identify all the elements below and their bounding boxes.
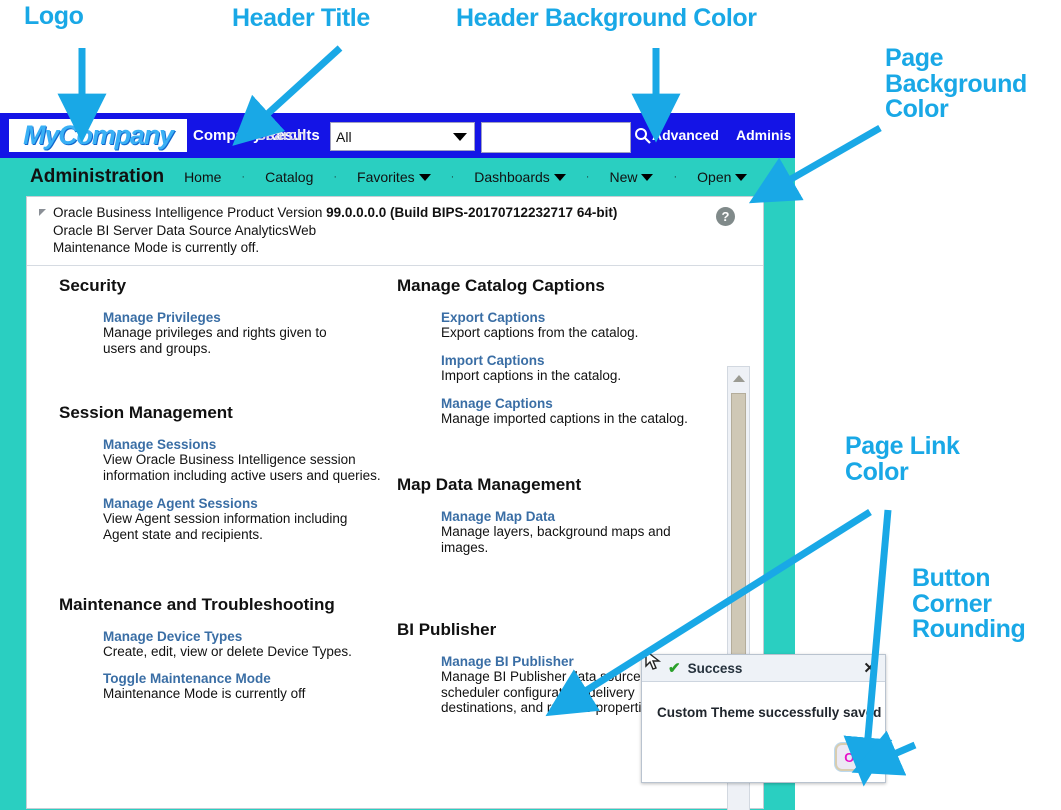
nav-item-open[interactable]: Open — [697, 169, 747, 185]
annotation-page-link: Page Link Color — [845, 434, 960, 485]
collapse-triangle-icon[interactable] — [39, 209, 46, 216]
annotation-header-bg: Header Background Color — [456, 6, 757, 32]
help-icon[interactable]: ? — [716, 207, 735, 226]
desc-manage-captions: Manage imported captions in the catalog. — [441, 411, 731, 427]
link-manage-captions[interactable]: Manage Captions — [441, 396, 722, 411]
section-title-maintenance: Maintenance and Troubleshooting — [59, 595, 389, 615]
nav-brand: Administration — [30, 166, 164, 188]
annotation-page-bg: Page Background Color — [885, 46, 1027, 123]
chevron-down-icon — [554, 174, 566, 181]
data-source-line: Oracle BI Server Data Source AnalyticsWe… — [53, 223, 763, 238]
annotation-logo: Logo — [24, 4, 83, 30]
spacer — [397, 568, 722, 620]
product-version-prefix: Oracle Business Intelligence Product Ver… — [53, 205, 326, 220]
search-label: Search — [256, 127, 306, 144]
desc-manage-map-data: Manage layers, background maps and image… — [441, 524, 701, 556]
dialog-title: Success — [688, 661, 743, 676]
dialog-title-bar: ✔ Success ✕ — [642, 655, 885, 682]
global-nav: Administration Home · Catalog · Favorite… — [0, 158, 795, 196]
section-title-bi-publisher: BI Publisher — [397, 620, 722, 640]
desc-import-captions: Import captions in the catalog. — [441, 368, 721, 384]
nav-label: Home — [184, 169, 221, 185]
search-scope-value: All — [336, 129, 352, 145]
product-version-line: Oracle Business Intelligence Product Ver… — [53, 205, 763, 220]
admin-left-column: Security Manage Privileges Manage privil… — [59, 276, 389, 714]
product-info-bar: Oracle Business Intelligence Product Ver… — [27, 197, 763, 266]
nav-separator: · — [333, 171, 337, 183]
scroll-up-arrow-icon[interactable] — [733, 375, 745, 382]
link-manage-sessions[interactable]: Manage Sessions — [103, 437, 389, 452]
advanced-link[interactable]: Advanced — [652, 127, 719, 143]
nav-item-dashboards[interactable]: Dashboards — [474, 169, 566, 185]
logo[interactable]: MyCompany — [8, 118, 188, 153]
annotation-button-corner: Button Corner Rounding — [912, 566, 1025, 643]
desc-manage-sessions: View Oracle Business Intelligence sessio… — [103, 452, 381, 484]
link-manage-map-data[interactable]: Manage Map Data — [441, 509, 722, 524]
search-scope-select[interactable]: All — [330, 122, 475, 151]
nav-label: Si — [775, 169, 787, 185]
nav-separator: · — [241, 171, 245, 183]
link-manage-agent-sessions[interactable]: Manage Agent Sessions — [103, 496, 389, 511]
ok-button[interactable]: OK — [835, 743, 873, 771]
annotation-header-title: Header Title — [232, 6, 370, 32]
nav-label: Open — [697, 169, 731, 185]
administration-link[interactable]: Adminis — [736, 127, 791, 143]
nav-label: Dashboards — [474, 169, 550, 185]
desc-manage-agent-sessions: View Agent session information including… — [103, 511, 375, 543]
link-export-captions[interactable]: Export Captions — [441, 310, 722, 325]
scrollbar-thumb[interactable] — [731, 393, 746, 691]
dialog-message: Custom Theme successfully saved — [657, 705, 885, 720]
nav-label: Favorites — [357, 169, 415, 185]
app-header: MyCompany Company Results Search All Adv… — [0, 113, 795, 158]
nav-separator: · — [586, 171, 590, 183]
spacer — [397, 439, 722, 475]
link-toggle-maintenance-mode[interactable]: Toggle Maintenance Mode — [103, 671, 389, 686]
section-title-security: Security — [59, 276, 389, 296]
nav-item-home[interactable]: Home — [184, 169, 221, 185]
section-title-manage-catalog-captions: Manage Catalog Captions — [397, 276, 722, 296]
link-manage-privileges[interactable]: Manage Privileges — [103, 310, 389, 325]
chevron-down-icon — [453, 133, 467, 141]
nav-item-catalog[interactable]: Catalog — [265, 169, 313, 185]
section-title-map-data-management: Map Data Management — [397, 475, 722, 495]
search-input[interactable] — [481, 122, 631, 153]
link-import-captions[interactable]: Import Captions — [441, 353, 722, 368]
chevron-down-icon — [419, 174, 431, 181]
mouse-cursor-icon — [645, 650, 663, 672]
desc-manage-device-types: Create, edit, view or delete Device Type… — [103, 644, 389, 660]
desc-toggle-maintenance-mode: Maintenance Mode is currently off — [103, 686, 389, 702]
desc-manage-privileges: Manage privileges and rights given to us… — [103, 325, 353, 357]
nav-item-signed-in-as[interactable]: Si — [775, 169, 787, 185]
close-icon[interactable]: ✕ — [863, 659, 876, 677]
nav-item-new[interactable]: New — [609, 169, 653, 185]
nav-separator: · — [673, 171, 677, 183]
nav-item-favorites[interactable]: Favorites — [357, 169, 431, 185]
nav-label: New — [609, 169, 637, 185]
nav-separator: · — [451, 171, 455, 183]
desc-export-captions: Export captions from the catalog. — [441, 325, 721, 341]
nav-label: Catalog — [265, 169, 313, 185]
product-version-build: 99.0.0.0.0 (Build BIPS-20170712232717 64… — [326, 205, 617, 220]
spacer — [59, 369, 389, 403]
success-dialog: ✔ Success ✕ Custom Theme successfully sa… — [641, 654, 886, 783]
chevron-down-icon — [735, 174, 747, 181]
spacer — [59, 555, 389, 595]
search-icon[interactable] — [634, 127, 651, 144]
maintenance-mode-line: Maintenance Mode is currently off. — [53, 240, 763, 255]
section-title-session-management: Session Management — [59, 403, 389, 423]
logo-text: MyCompany — [23, 120, 173, 151]
chevron-down-icon — [641, 174, 653, 181]
check-icon: ✔ — [668, 659, 681, 677]
link-manage-device-types[interactable]: Manage Device Types — [103, 629, 389, 644]
